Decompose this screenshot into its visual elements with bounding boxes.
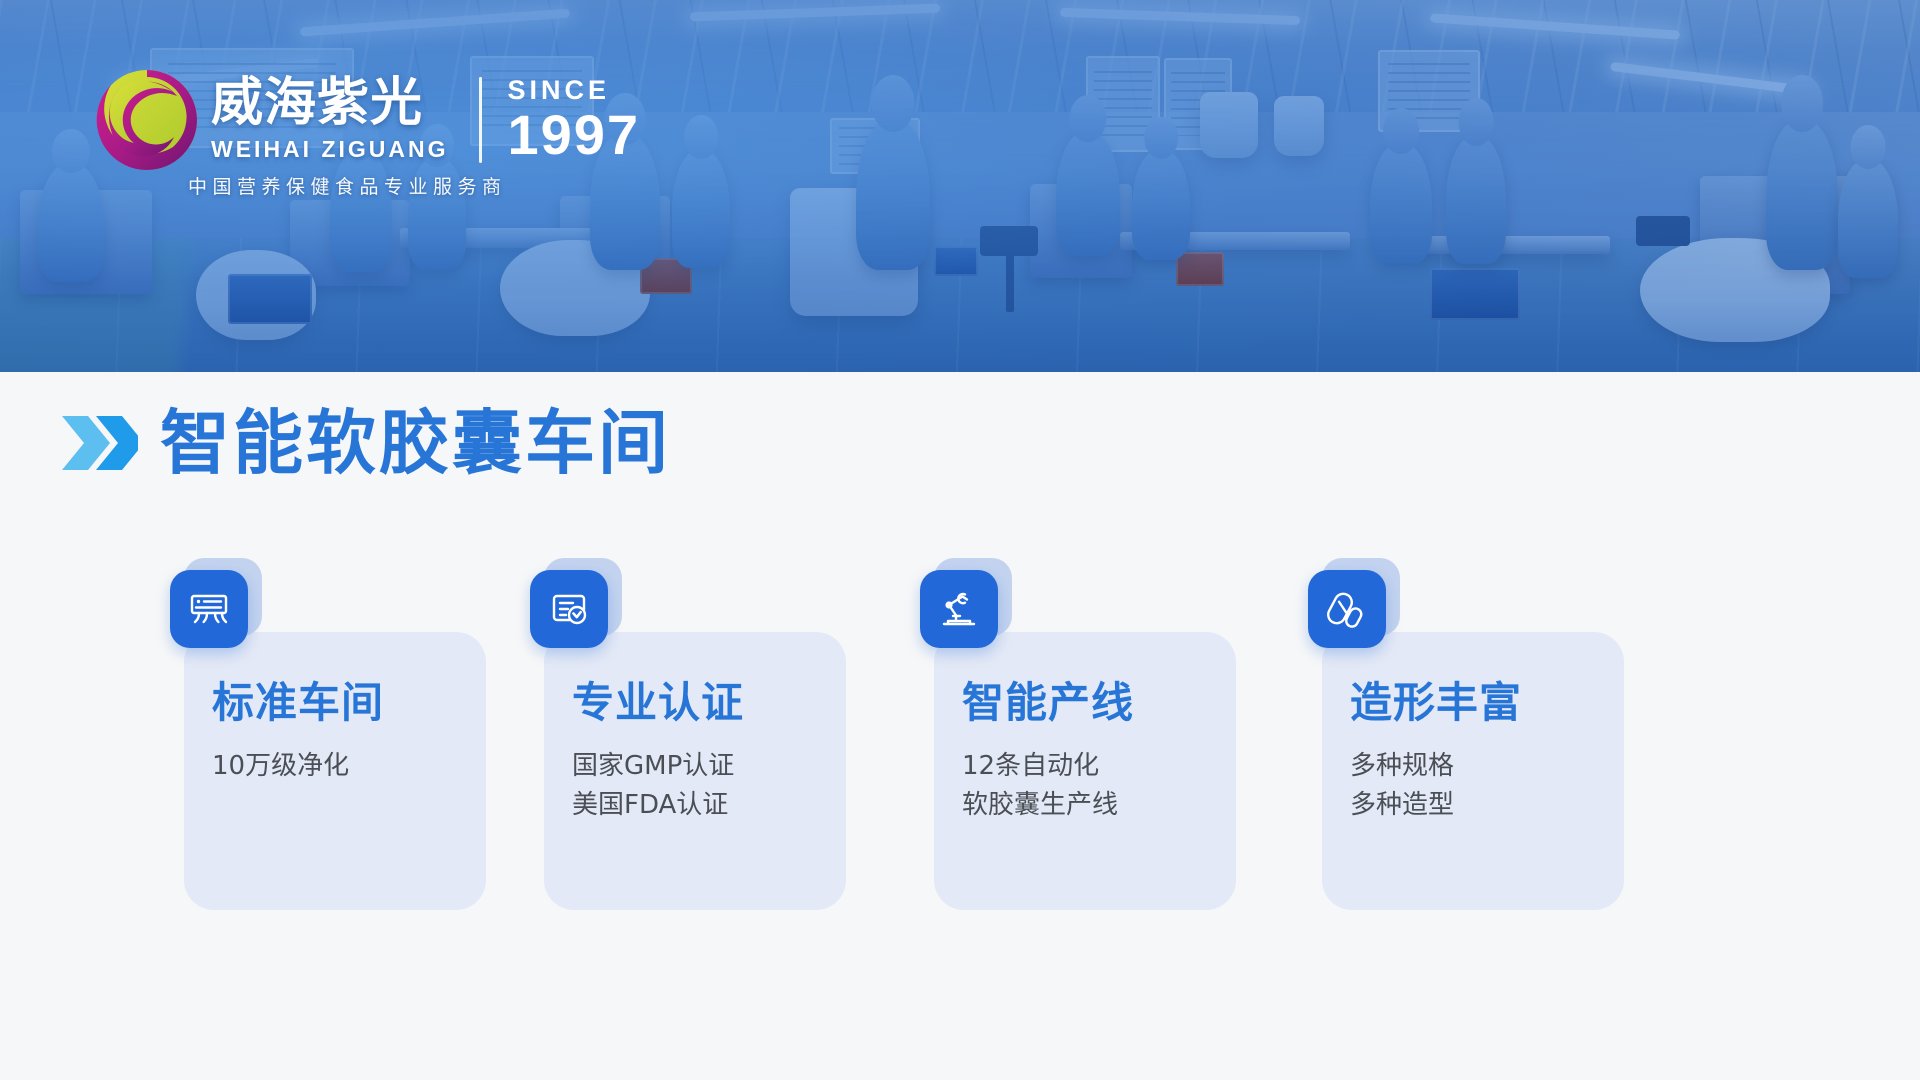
feature-card-certification[interactable]: 专业认证 国家GMP认证 美国FDA认证 — [544, 632, 846, 910]
card-title: 专业认证 — [572, 680, 826, 725]
since-label: SINCE — [508, 77, 641, 104]
ziguang-swirl-logo-icon — [95, 68, 199, 172]
slide-page: 威海紫光 WEIHAI ZIGUANG SINCE 1997 中国营养保健食品专… — [0, 0, 1920, 1080]
card-icon-wrap — [1308, 570, 1400, 662]
card-desc: 多种规格 多种造型 — [1350, 747, 1604, 825]
hero-banner: 威海紫光 WEIHAI ZIGUANG SINCE 1997 中国营养保健食品专… — [0, 0, 1920, 372]
softgel-capsule-icon — [1308, 570, 1386, 648]
card-icon-wrap — [530, 570, 622, 662]
card-desc: 10万级净化 — [212, 747, 466, 786]
card-body: 标准车间 10万级净化 — [212, 680, 466, 786]
page-title: 智能软胶囊车间 — [160, 408, 671, 478]
brand-text: 威海紫光 WEIHAI ZIGUANG — [211, 77, 449, 163]
double-chevron-right-icon — [60, 410, 138, 476]
section-heading: 智能软胶囊车间 — [60, 408, 671, 478]
card-body: 造形丰富 多种规格 多种造型 — [1350, 680, 1604, 825]
card-desc: 12条自动化 软胶囊生产线 — [962, 747, 1216, 825]
robot-arm-icon — [920, 570, 998, 648]
brand-name-cn: 威海紫光 — [211, 77, 449, 130]
card-body: 智能产线 12条自动化 软胶囊生产线 — [962, 680, 1216, 825]
card-body: 专业认证 国家GMP认证 美国FDA认证 — [572, 680, 826, 825]
brand-name-en: WEIHAI ZIGUANG — [211, 136, 449, 163]
card-icon-wrap — [170, 570, 262, 662]
feature-card-row: 标准车间 10万级净化 — [0, 612, 1920, 932]
logo-divider — [479, 77, 482, 163]
since-year: 1997 — [508, 106, 641, 163]
card-title: 造形丰富 — [1350, 680, 1604, 725]
brand-tagline: 中国营养保健食品专业服务商 — [188, 172, 507, 199]
feature-card-standard-workshop[interactable]: 标准车间 10万级净化 — [184, 632, 486, 910]
since-block: SINCE 1997 — [508, 77, 641, 163]
brand-logo-lockup: 威海紫光 WEIHAI ZIGUANG SINCE 1997 — [95, 68, 640, 172]
card-title: 标准车间 — [212, 680, 466, 725]
feature-card-smart-line[interactable]: 智能产线 12条自动化 软胶囊生产线 — [934, 632, 1236, 910]
feature-card-shapes[interactable]: 造形丰富 多种规格 多种造型 — [1322, 632, 1624, 910]
card-icon-wrap — [920, 570, 1012, 662]
card-title: 智能产线 — [962, 680, 1216, 725]
card-desc: 国家GMP认证 美国FDA认证 — [572, 747, 826, 825]
certificate-verified-icon — [530, 570, 608, 648]
cleanroom-air-handler-icon — [170, 570, 248, 648]
